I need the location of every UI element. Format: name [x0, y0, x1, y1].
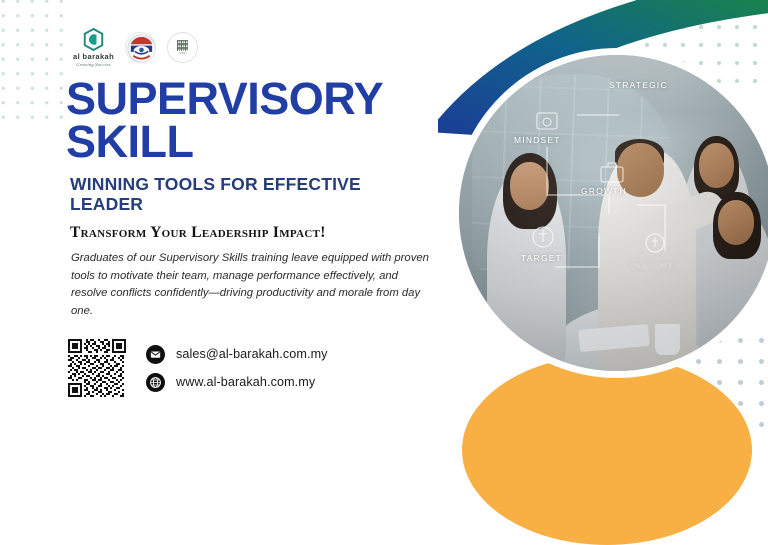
hud-label-strategic: STRATEGIC	[609, 80, 668, 90]
title-line-2: SKILL	[66, 116, 194, 167]
team-meeting-photo: STRATEGIC MINDSET GROWTH TARGET INSIGHT	[459, 55, 768, 371]
hud-label-mindset: MINDSET	[514, 135, 561, 145]
logo-al-barakah[interactable]: al barakah Growing Success	[73, 28, 114, 67]
website-url: www.al-barakah.com.my	[176, 375, 315, 389]
logo-name: al barakah	[73, 52, 114, 61]
promo-banner: { "brand": { "logos": [ { "name": "al ba…	[0, 0, 768, 432]
subtitle: WINNING TOOLS FOR EFFECTIVE LEADER	[70, 174, 400, 215]
content-column: al barakah Growing Success MSC SUPERVISO…	[66, 0, 466, 432]
logo-certification-seal[interactable]: MSC	[167, 32, 198, 63]
seal-label: MSC	[179, 52, 185, 55]
logo-row: al barakah Growing Success MSC	[73, 28, 198, 67]
dot-pattern-left	[0, 0, 70, 122]
kicker-headline: Transform Your Leadership Impact!	[70, 224, 326, 242]
orange-accent-circle	[462, 355, 752, 545]
hero-photo-circle: STRATEGIC MINDSET GROWTH TARGET INSIGHT	[452, 48, 768, 378]
contact-block: sales@al-barakah.com.my www.al-barakah.c…	[146, 340, 328, 396]
hud-label-target: TARGET	[521, 253, 562, 263]
hexagon-logo-icon	[83, 28, 104, 51]
email-address: sales@al-barakah.com.my	[176, 347, 328, 361]
hud-label-group: STRATEGIC MINDSET GROWTH TARGET INSIGHT	[459, 55, 768, 371]
certification-badge-icon	[126, 33, 156, 63]
globe-icon	[146, 373, 165, 392]
contact-row-email[interactable]: sales@al-barakah.com.my	[146, 340, 328, 368]
envelope-icon	[146, 345, 165, 364]
page-title: SUPERVISORY SKILL	[66, 78, 466, 164]
hud-label-insight: INSIGHT	[631, 261, 674, 271]
hud-label-growth: GROWTH	[581, 186, 627, 196]
qr-seal-icon	[177, 40, 188, 51]
qr-code[interactable]	[68, 339, 126, 397]
body-paragraph: Graduates of our Supervisory Skills trai…	[71, 250, 431, 320]
logo-tagline: Growing Success	[76, 62, 111, 67]
contact-row-website[interactable]: www.al-barakah.com.my	[146, 368, 328, 396]
logo-certification-badge[interactable]	[125, 32, 156, 63]
